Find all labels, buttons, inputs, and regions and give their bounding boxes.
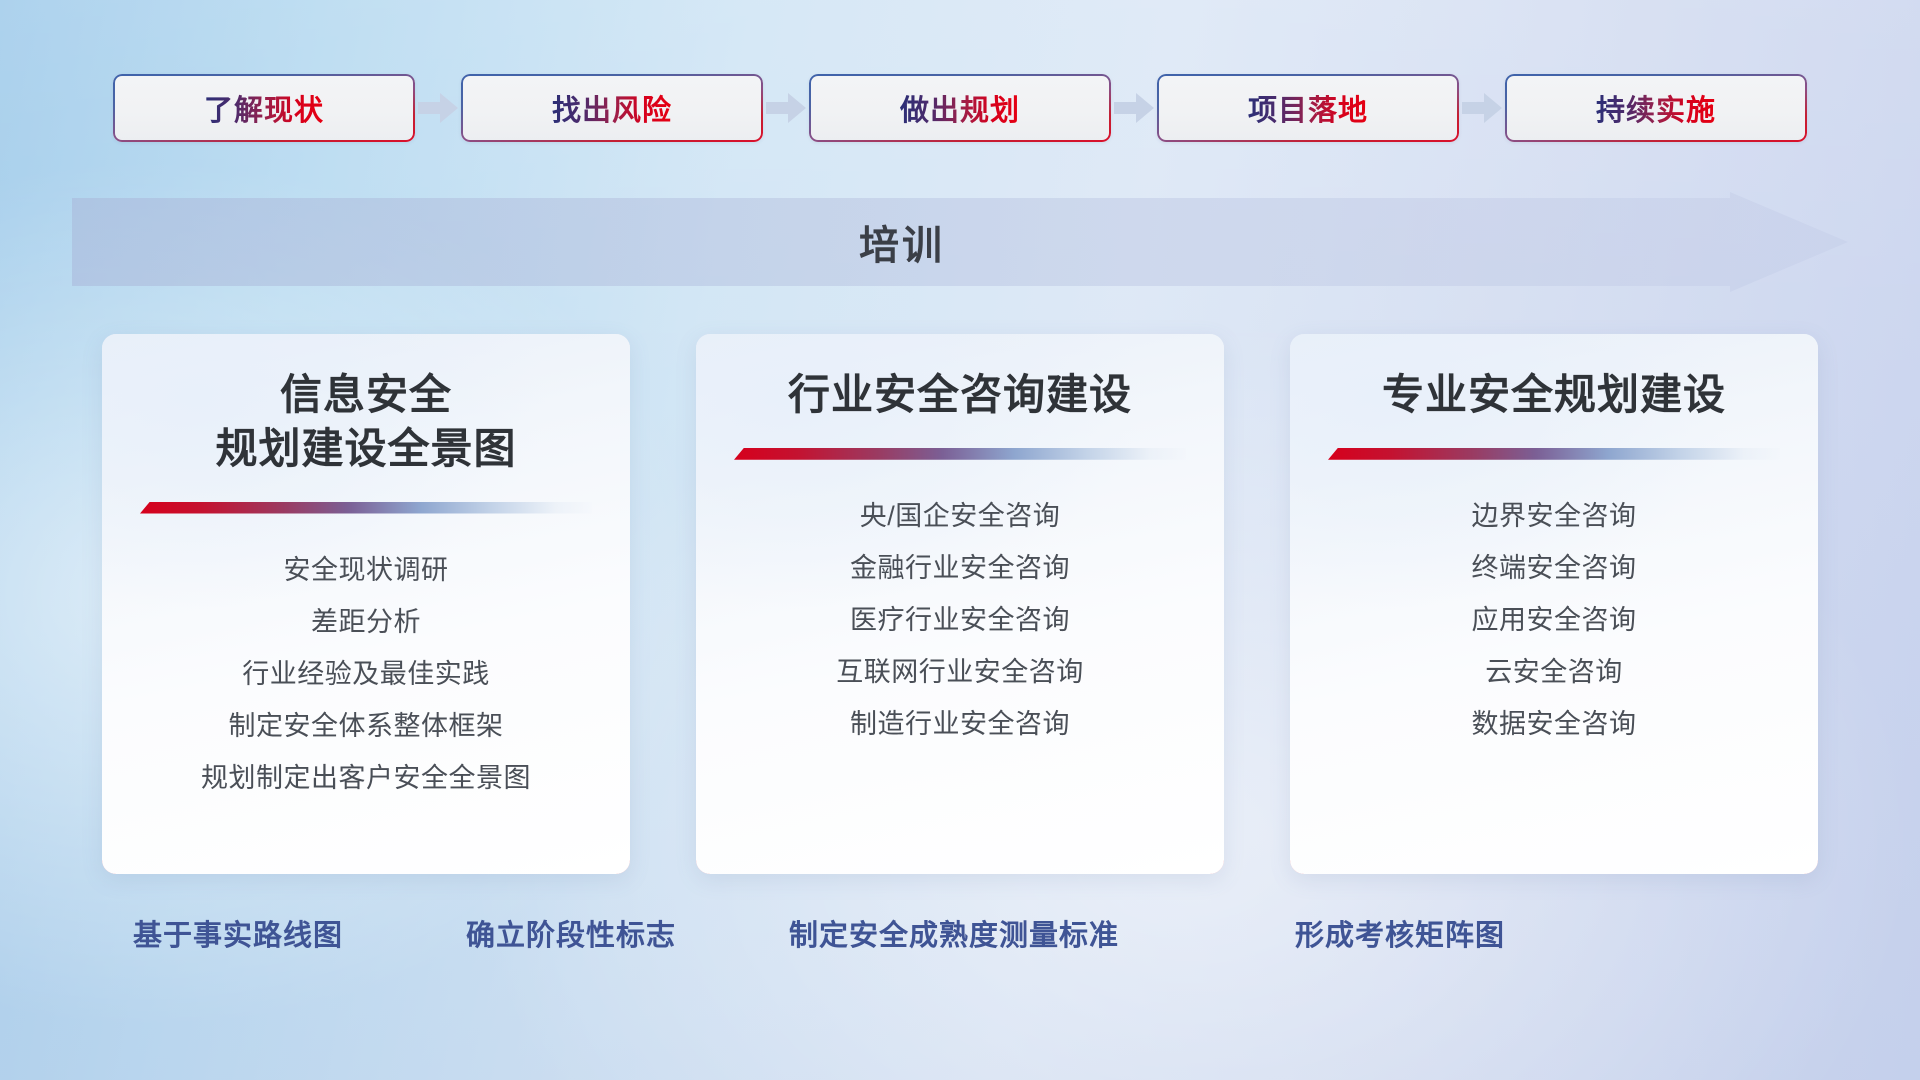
service-card-2-list: 央/国企安全咨询 金融行业安全咨询 医疗行业安全咨询 互联网行业安全咨询 制造行… <box>836 490 1084 750</box>
list-item: 金融行业安全咨询 <box>850 542 1070 594</box>
list-item: 数据安全咨询 <box>1472 698 1637 750</box>
list-item: 终端安全咨询 <box>1472 542 1637 594</box>
service-card-1-title-line1: 信息安全 <box>215 368 516 422</box>
arrow-right-icon <box>1111 72 1157 144</box>
step-box-5[interactable]: 持续实施 <box>1505 74 1807 142</box>
footer-label-4: 形成考核矩阵图 <box>1295 912 1505 954</box>
service-card-3-title-line1: 专业安全规划建设 <box>1382 368 1726 422</box>
service-card-3-divider <box>1328 448 1780 460</box>
service-card-2[interactable]: 行业安全咨询建设 央/国企安全咨询 金融行业安全咨询 医疗行业安全咨询 互联网行… <box>696 334 1224 874</box>
training-banner-label: 培训 <box>72 192 1732 292</box>
arrow-right-icon <box>1459 72 1505 144</box>
step-label-3: 做出规划 <box>900 87 1020 129</box>
service-card-1-list: 安全现状调研 差距分析 行业经验及最佳实践 制定安全体系整体框架 规划制定出客户… <box>201 544 531 804</box>
footer-label-1: 基于事实路线图 <box>133 912 343 954</box>
footer-label-group: 基于事实路线图 确立阶段性标志 制定安全成熟度测量标准 形成考核矩阵图 <box>0 912 1920 966</box>
service-card-3[interactable]: 专业安全规划建设 边界安全咨询 终端安全咨询 应用安全咨询 云安全咨询 数据安全… <box>1290 334 1818 874</box>
service-card-2-title-line1: 行业安全咨询建设 <box>788 368 1132 422</box>
training-banner: 培训 <box>72 192 1848 292</box>
list-item: 规划制定出客户安全全景图 <box>201 752 531 804</box>
footer-label-3: 制定安全成熟度测量标准 <box>789 912 1119 954</box>
step-box-3[interactable]: 做出规划 <box>809 74 1111 142</box>
step-box-1[interactable]: 了解现状 <box>113 74 415 142</box>
list-item: 安全现状调研 <box>284 544 449 596</box>
service-card-1-title-line2: 规划建设全景图 <box>215 422 516 476</box>
step-box-2[interactable]: 找出风险 <box>461 74 763 142</box>
list-item: 行业经验及最佳实践 <box>242 648 490 700</box>
list-item: 边界安全咨询 <box>1472 490 1637 542</box>
step-label-5: 持续实施 <box>1596 87 1716 129</box>
service-card-3-title: 专业安全规划建设 <box>1362 368 1746 422</box>
arrow-right-icon <box>415 72 461 144</box>
service-card-1[interactable]: 信息安全 规划建设全景图 安全现状调研 差距分析 行业经验及最佳实践 制定安全体… <box>102 334 630 874</box>
service-card-2-divider <box>734 448 1186 460</box>
step-label-1: 了解现状 <box>204 87 324 129</box>
service-card-1-divider <box>140 502 592 514</box>
step-label-4: 项目落地 <box>1248 87 1368 129</box>
process-step-strip: 了解现状 找出风险 做出规划 项目落地 持续实施 <box>0 72 1920 144</box>
service-card-group: 信息安全 规划建设全景图 安全现状调研 差距分析 行业经验及最佳实践 制定安全体… <box>0 334 1920 884</box>
step-box-4[interactable]: 项目落地 <box>1157 74 1459 142</box>
footer-label-2: 确立阶段性标志 <box>466 912 676 954</box>
list-item: 央/国企安全咨询 <box>860 490 1061 542</box>
step-label-2: 找出风险 <box>552 87 672 129</box>
list-item: 云安全咨询 <box>1485 646 1623 698</box>
service-card-2-title: 行业安全咨询建设 <box>768 368 1152 422</box>
arrow-right-icon <box>763 72 809 144</box>
list-item: 差距分析 <box>311 596 421 648</box>
service-card-3-list: 边界安全咨询 终端安全咨询 应用安全咨询 云安全咨询 数据安全咨询 <box>1472 490 1637 750</box>
list-item: 应用安全咨询 <box>1472 594 1637 646</box>
list-item: 制造行业安全咨询 <box>850 698 1070 750</box>
list-item: 互联网行业安全咨询 <box>836 646 1084 698</box>
service-card-1-title: 信息安全 规划建设全景图 <box>195 368 536 476</box>
list-item: 医疗行业安全咨询 <box>850 594 1070 646</box>
list-item: 制定安全体系整体框架 <box>229 700 504 752</box>
